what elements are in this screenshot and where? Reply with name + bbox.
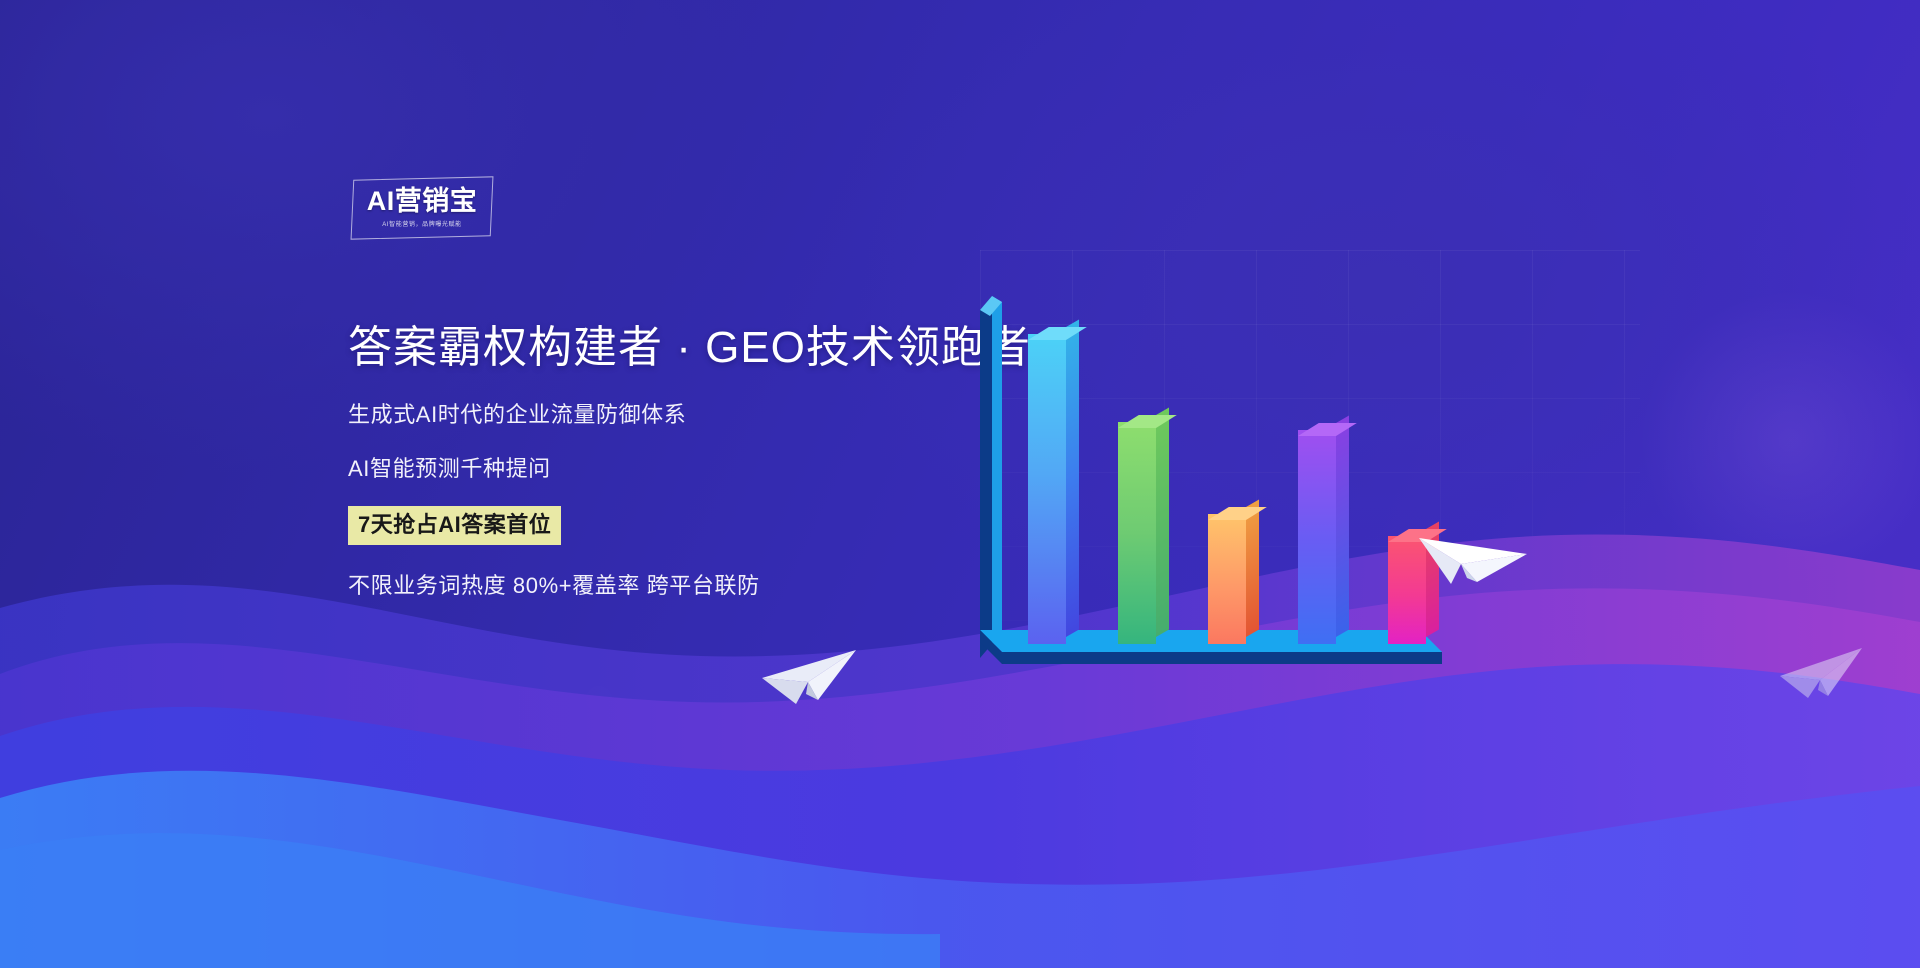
paper-plane-icon-center — [1415, 512, 1535, 592]
brand-logo[interactable]: AI营销宝 AI智能营销，品牌曝光赋能 — [352, 178, 492, 238]
bar-side — [1246, 499, 1259, 637]
hero-footline: 不限业务词热度 80%+覆盖率 跨平台联防 — [348, 571, 1048, 601]
chart-bar-3 — [1208, 514, 1246, 644]
bar-face — [1208, 514, 1246, 644]
highlight-badge: 7天抢占AI答案首位 — [348, 506, 561, 545]
paper-plane-icon-left — [760, 638, 870, 712]
paper-plane-icon-right — [1778, 640, 1874, 706]
chart-bar-4 — [1298, 430, 1336, 644]
bar-side — [1066, 319, 1079, 637]
hero-banner: AI营销宝 AI智能营销，品牌曝光赋能 答案霸权构建者 · GEO技术领跑者 生… — [0, 0, 1920, 968]
hero-highlight-row: 7天抢占AI答案首位 — [348, 506, 1048, 545]
hero-subline-1: 生成式AI时代的企业流量防御体系 — [348, 400, 1048, 430]
chart-bar-1 — [1028, 334, 1066, 644]
bar-face — [1028, 334, 1066, 644]
page-title: 答案霸权构建者 · GEO技术领跑者 — [348, 318, 1048, 378]
bar-chart-3d — [980, 296, 1450, 666]
bar-side — [1156, 407, 1169, 637]
hero-subline-2: AI智能预测千种提问 — [348, 454, 1048, 484]
bar-face — [1118, 422, 1156, 644]
chart-bar-2 — [1118, 422, 1156, 644]
bar-face — [1298, 430, 1336, 644]
chart-y-axis — [980, 296, 1006, 666]
logo-wordmark: AI营销宝 — [352, 186, 492, 216]
logo-tagline: AI智能营销，品牌曝光赋能 — [352, 219, 492, 228]
bar-side — [1336, 415, 1349, 637]
hero-copy: 答案霸权构建者 · GEO技术领跑者 生成式AI时代的企业流量防御体系 AI智能… — [348, 318, 1048, 601]
